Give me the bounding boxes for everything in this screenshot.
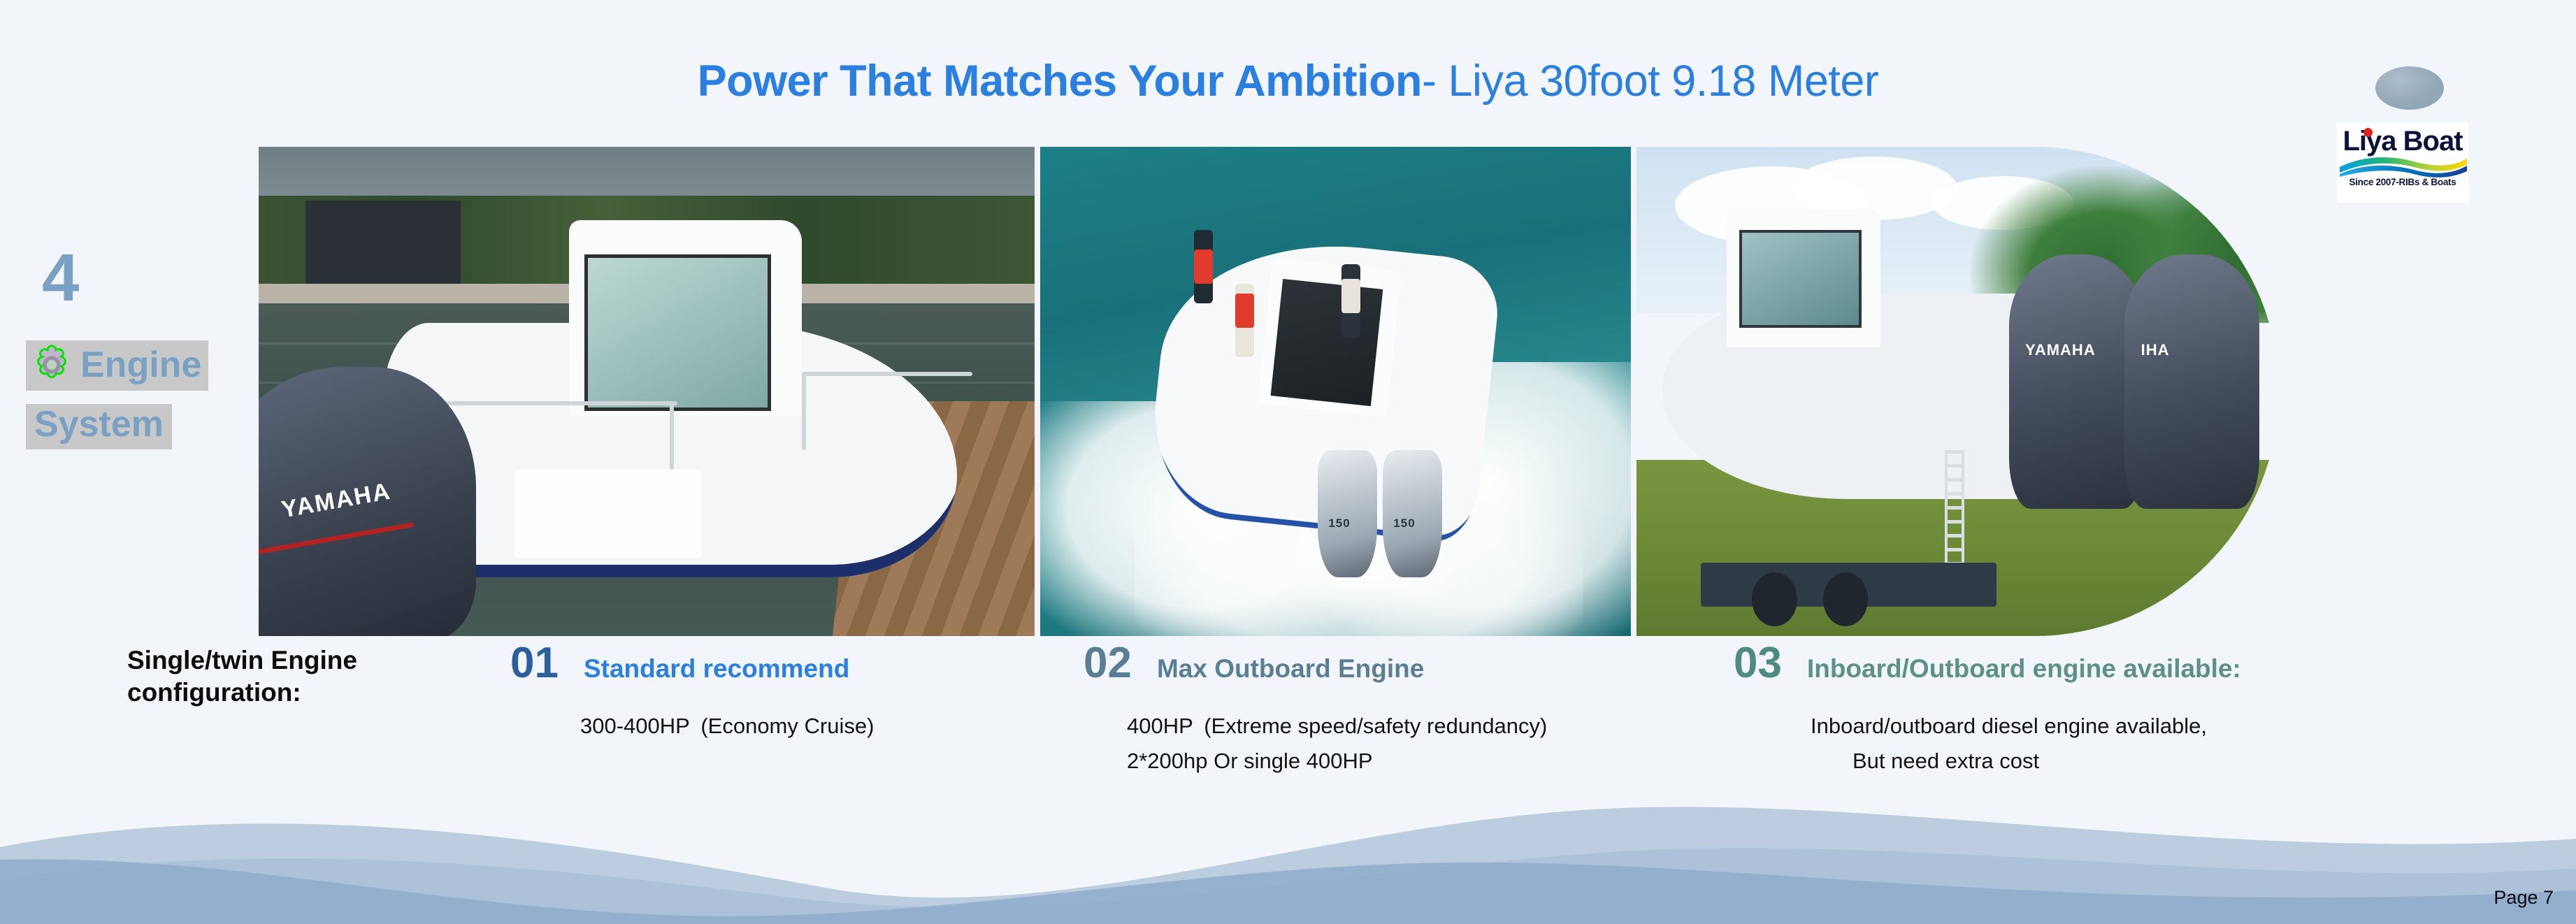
engine-option-03-title: Inboard/Outboard engine available: <box>1807 656 2241 681</box>
photo-boat-docked-with-yamaha-outboard: YAMAHA <box>259 147 1035 636</box>
logo-name: Liya Boat <box>2343 127 2462 156</box>
engine-option-03-body: Inboard/outboard diesel engine available… <box>1734 709 2433 778</box>
engine-option-01-number: 01 <box>510 642 559 685</box>
logo-card: Liya Boat Since 2007-RIBs & Boats <box>2337 122 2468 203</box>
section-label-line2: System <box>26 404 172 449</box>
engine-option-01: 01 Standard recommend 300-400HP (Economy… <box>510 642 1042 744</box>
logo-ellipse-decoration <box>2375 66 2444 110</box>
section-number: 4 <box>42 245 79 312</box>
engine-option-02: 02 Max Outboard Engine 400HP (Extreme sp… <box>1084 642 1692 778</box>
engine-option-03-number: 03 <box>1734 642 1782 685</box>
engine-option-03-line-1: Inboard/outboard diesel engine available… <box>1811 709 2433 744</box>
engine-option-03-head: 03 Inboard/Outboard engine available: <box>1734 642 2433 685</box>
page-number: Page 7 <box>2494 887 2554 909</box>
lead-text: Single/twin Engine configuration: <box>127 644 456 709</box>
page-title: Power That Matches Your Ambition- Liya 3… <box>0 56 2576 106</box>
engine-option-02-body: 400HP (Extreme speed/safety redundancy) … <box>1084 709 1692 778</box>
photo-strip: YAMAHA 150 150 <box>259 147 2279 636</box>
engine-option-02-line-2: 2*200hp Or single 400HP <box>1127 744 1692 779</box>
engine-option-02-number: 02 <box>1084 642 1132 685</box>
section-label-system: System <box>34 404 164 445</box>
engine-option-02-line-1: 400HP (Extreme speed/safety redundancy) <box>1127 709 1692 744</box>
engine-option-01-line-1: 300-400HP (Economy Cruise) <box>580 709 1042 744</box>
section-label-engine: Engine <box>80 346 201 384</box>
photo-3-artwork: YAMAHA IHA <box>1636 147 2279 636</box>
logo-tagline: Since 2007-RIBs & Boats <box>2350 177 2456 187</box>
logo-wave-icon <box>2337 153 2468 178</box>
brand-logo: Liya Boat Since 2007-RIBs & Boats <box>2328 66 2489 206</box>
photo-1-artwork: YAMAHA <box>259 147 1035 636</box>
gear-icon <box>30 343 73 387</box>
page-title-strong: Power That Matches Your Ambition <box>698 57 1422 106</box>
engine-option-01-body: 300-400HP (Economy Cruise) <box>510 709 1042 744</box>
logo-name-text: Liya Boat <box>2343 126 2462 157</box>
slide-canvas: Power That Matches Your Ambition- Liya 3… <box>0 0 2576 924</box>
engine-option-03: 03 Inboard/Outboard engine available: In… <box>1734 642 2433 778</box>
wave-decoration <box>0 798 2576 924</box>
engine-option-01-head: 01 Standard recommend <box>510 642 1042 685</box>
photo-boat-on-trailer-twin-yamaha: YAMAHA IHA <box>1636 147 2279 636</box>
photo-boat-running-twin-outboards: 150 150 <box>1040 147 1631 636</box>
page-title-light: - Liya 30foot 9.18 Meter <box>1422 57 1878 106</box>
engine-option-01-title: Standard recommend <box>584 656 849 681</box>
engine-option-02-title: Max Outboard Engine <box>1157 656 1424 681</box>
engine-option-02-head: 02 Max Outboard Engine <box>1084 642 1692 685</box>
section-label-line1: Engine <box>26 340 208 391</box>
engine-option-03-line-2: But need extra cost <box>1811 744 2433 779</box>
photo-2-artwork: 150 150 <box>1040 147 1631 636</box>
